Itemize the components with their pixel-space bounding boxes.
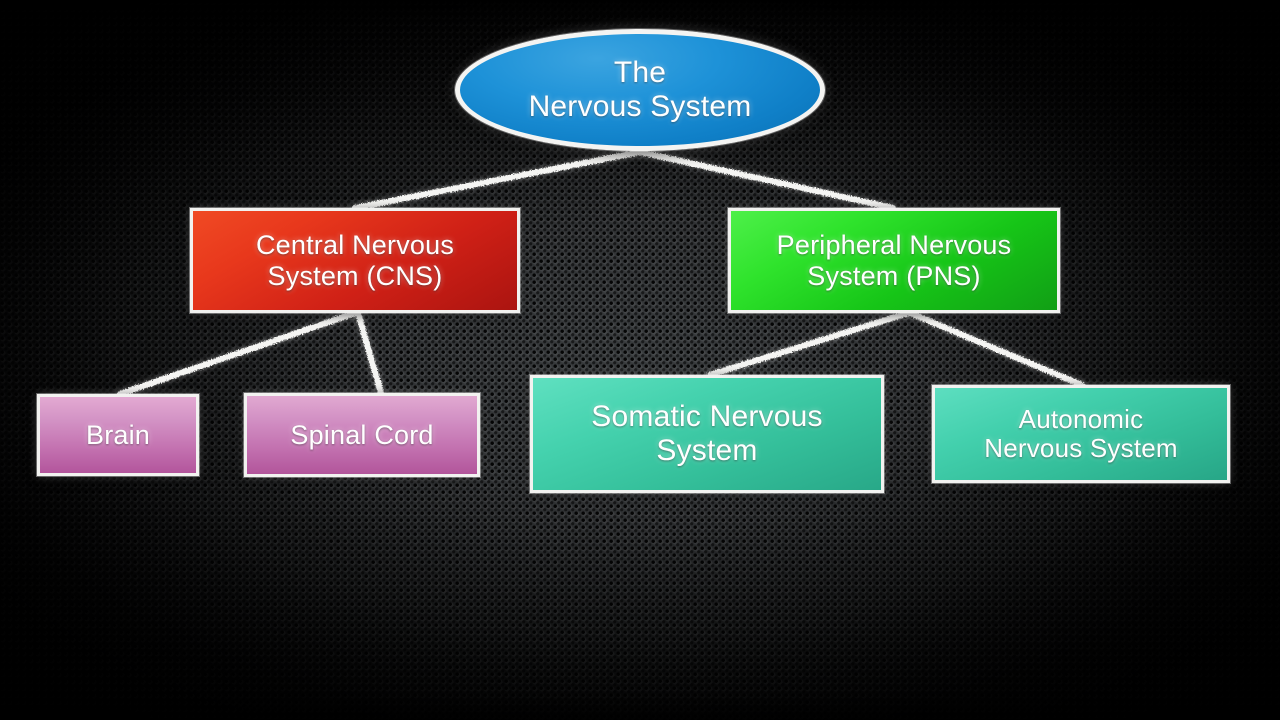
node-brain-label: Brain [76, 420, 160, 450]
node-somatic-line1: Somatic Nervous [591, 400, 822, 433]
node-nervous-system-label: The Nervous System [519, 56, 762, 123]
edge-pns-somatic [710, 313, 908, 375]
node-cns-line1: Central Nervous [256, 230, 454, 260]
edge-root-cns [355, 152, 640, 208]
node-somatic-line2: System [656, 434, 757, 467]
diagram-canvas: The Nervous System Central Nervous Syste… [0, 0, 1280, 720]
node-autonomic-line2: Nervous System [984, 433, 1178, 463]
edge-root-pns [640, 152, 893, 208]
node-nervous-system-line2: Nervous System [529, 90, 752, 123]
node-peripheral-nervous-system[interactable]: Peripheral Nervous System (PNS) [728, 208, 1060, 313]
node-peripheral-nervous-system-label: Peripheral Nervous System (PNS) [767, 230, 1022, 290]
node-central-nervous-system[interactable]: Central Nervous System (CNS) [190, 208, 520, 313]
node-spinal-cord-label: Spinal Cord [280, 420, 443, 450]
node-pns-line2: System (PNS) [807, 261, 980, 291]
node-spinal-cord[interactable]: Spinal Cord [244, 393, 480, 477]
node-autonomic-line1: Autonomic [1019, 404, 1144, 434]
node-nervous-system-line1: The [614, 56, 666, 89]
edge-cns-spinal [358, 313, 381, 393]
node-somatic-nervous-system[interactable]: Somatic Nervous System [530, 375, 884, 493]
node-autonomic-nervous-system[interactable]: Autonomic Nervous System [932, 385, 1230, 483]
node-cns-line2: System (CNS) [268, 261, 443, 291]
node-pns-line1: Peripheral Nervous [777, 230, 1012, 260]
edge-cns-brain [120, 313, 355, 394]
node-autonomic-nervous-system-label: Autonomic Nervous System [974, 405, 1188, 463]
edge-pns-autonomic [910, 313, 1082, 385]
node-somatic-nervous-system-label: Somatic Nervous System [581, 400, 832, 467]
node-brain[interactable]: Brain [37, 394, 199, 476]
node-nervous-system[interactable]: The Nervous System [455, 29, 825, 151]
node-central-nervous-system-label: Central Nervous System (CNS) [246, 230, 464, 290]
